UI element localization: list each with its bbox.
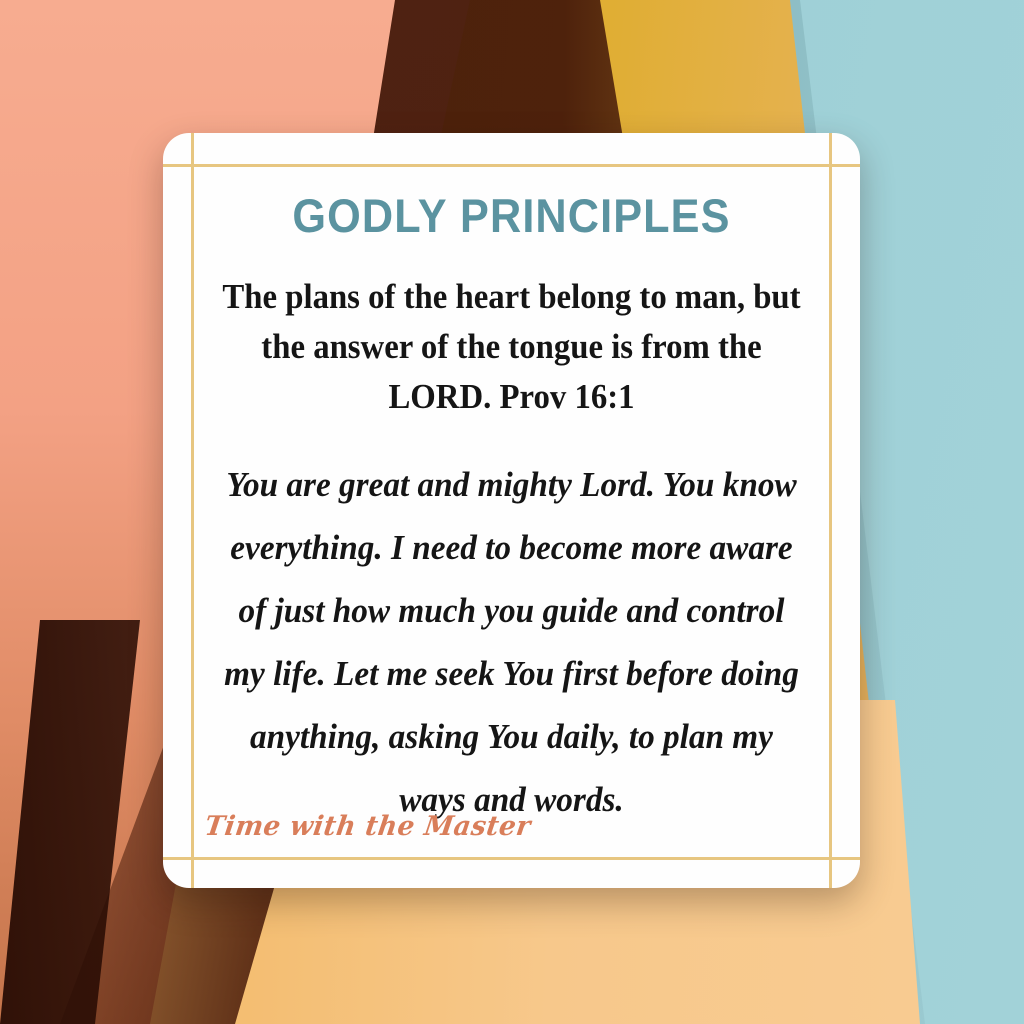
card-content: GODLY PRINCIPLES The plans of the heart … [163,164,860,831]
quote-card: GODLY PRINCIPLES The plans of the heart … [163,133,860,888]
page-title: GODLY PRINCIPLES [230,164,794,242]
poster-canvas: GODLY PRINCIPLES The plans of the heart … [0,0,1024,1024]
scripture-verse: The plans of the heart belong to man, bu… [220,242,802,423]
brand-signature: Time with the Master [203,811,533,842]
frame-line-bottom [163,857,860,860]
prayer-text: You are great and mighty Lord. You know … [220,423,802,831]
